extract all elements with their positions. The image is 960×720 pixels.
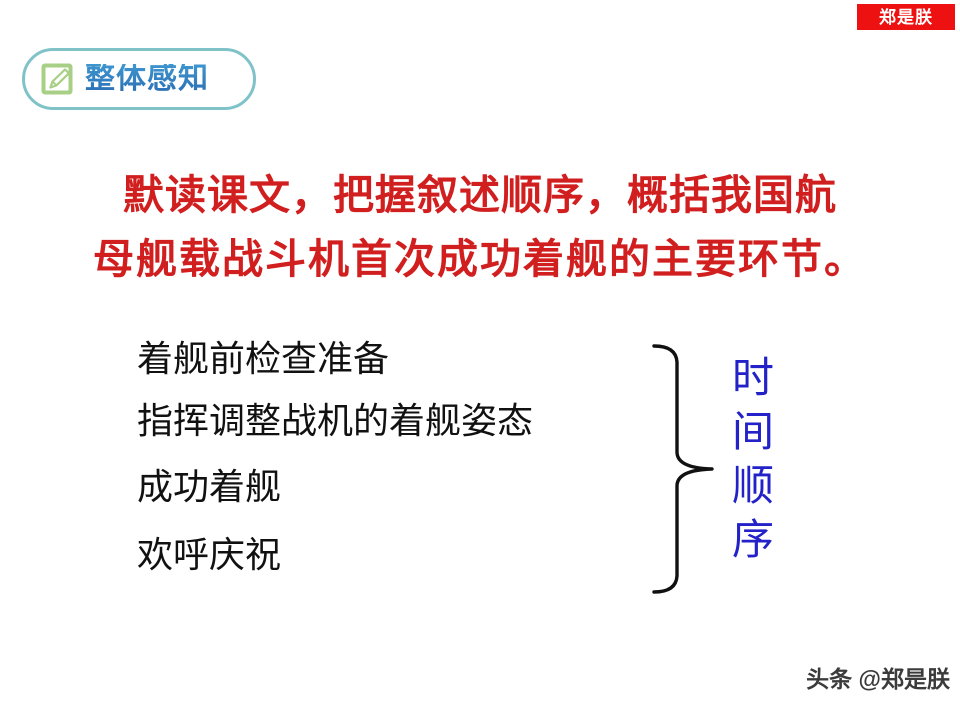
vertical-label-char: 序 <box>722 514 784 568</box>
section-title-label: 整体感知 <box>85 64 209 94</box>
vertical-label-char: 时 <box>722 352 784 406</box>
heading-prompt: 默读课文，把握叙述顺序，概括我国航 母舰载战斗机首次成功着舰的主要环节。 <box>60 163 900 291</box>
vertical-label-char: 顺 <box>722 460 784 514</box>
brand-badge: 郑是朕 <box>857 4 955 30</box>
list-item: 成功着舰 <box>137 469 657 505</box>
watermark: 头条 @郑是朕 <box>778 668 950 691</box>
vertical-label-time-order: 时 间 顺 序 <box>722 352 784 568</box>
step-list: 着舰前检查准备 指挥调整战机的着舰姿态 成功着舰 欢呼庆祝 <box>137 341 657 573</box>
section-title-pill: 整体感知 <box>22 48 256 110</box>
pencil-edit-icon <box>41 62 75 96</box>
vertical-label-char: 间 <box>722 406 784 460</box>
list-item: 欢呼庆祝 <box>137 537 657 573</box>
heading-line-2: 母舰载战斗机首次成功着舰的主要环节。 <box>60 227 900 291</box>
heading-line-1: 默读课文，把握叙述顺序，概括我国航 <box>60 163 900 227</box>
list-item: 指挥调整战机的着舰姿态 <box>137 403 657 439</box>
slide-canvas: 郑是朕 整体感知 默读课文，把握叙述顺序，概括我国航 母舰载战斗机首次成功着舰的… <box>0 0 960 720</box>
right-curly-brace-icon <box>650 344 720 594</box>
brand-badge-label: 郑是朕 <box>879 9 933 26</box>
list-item: 着舰前检查准备 <box>137 341 657 377</box>
